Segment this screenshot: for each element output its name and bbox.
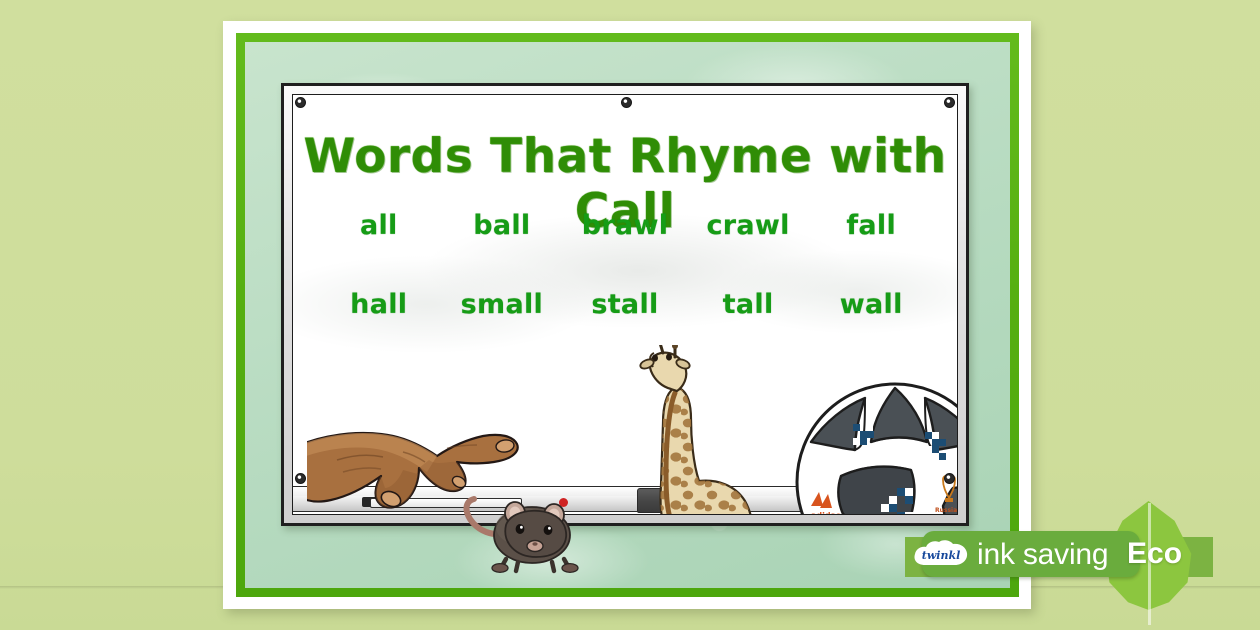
poster-green-frame-wrap: Words That Rhyme with Call all ball braw… xyxy=(236,33,1019,597)
whiteboard-pen-tray xyxy=(292,486,958,512)
rhyme-word: wall xyxy=(813,289,929,320)
whiteboard-bevel: Words That Rhyme with Call all ball braw… xyxy=(284,86,966,523)
rhyme-word: crawl xyxy=(690,210,806,241)
whiteboard-screw-icon xyxy=(621,97,632,108)
whiteboard-screw-icon xyxy=(944,97,955,108)
rhyme-word: stall xyxy=(567,289,683,320)
rhyme-word: all xyxy=(321,210,437,241)
whiteboard-surface: Words That Rhyme with Call all ball braw… xyxy=(292,94,958,515)
rhyme-word: hall xyxy=(321,289,437,320)
whiteboard-marker-icon xyxy=(370,498,522,508)
twinkl-wordmark: twinkl xyxy=(922,549,961,562)
twinkl-logo-icon: twinkl xyxy=(913,539,969,569)
svg-text:2018: 2018 xyxy=(937,514,950,515)
rhyme-word: fall xyxy=(813,210,929,241)
rhyme-word: tall xyxy=(690,289,806,320)
rhyme-word: brawl xyxy=(567,210,683,241)
rhyme-word: ball xyxy=(444,210,560,241)
rhyme-word-row-1: all ball brawl crawl fall xyxy=(321,210,929,241)
whiteboard-screw-icon xyxy=(295,97,306,108)
eco-badge: twinkl ink saving Eco xyxy=(905,531,1213,583)
poster-card: Words That Rhyme with Call all ball braw… xyxy=(223,21,1031,609)
board-eraser-icon xyxy=(637,488,731,513)
rhyme-word: small xyxy=(444,289,560,320)
ink-saving-label: ink saving xyxy=(977,538,1108,572)
whiteboard-screw-icon xyxy=(944,473,955,484)
whiteboard: Words That Rhyme with Call all ball braw… xyxy=(281,83,969,526)
red-marker-tip-icon xyxy=(559,498,568,507)
rhyme-word-row-2: hall small stall tall wall xyxy=(321,289,929,320)
whiteboard-screw-icon xyxy=(295,473,306,484)
eco-label: Eco xyxy=(1127,537,1182,571)
